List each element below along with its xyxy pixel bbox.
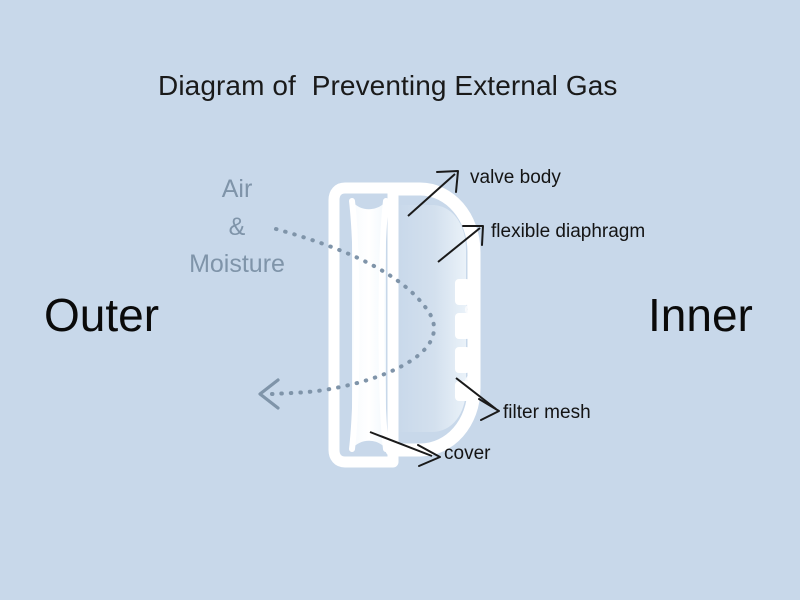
airflow-arrowhead-icon — [260, 380, 278, 408]
leader-arrowhead-icon — [479, 399, 499, 420]
airflow-label-line-1: Air — [172, 177, 302, 202]
filter-mesh-slot — [455, 313, 470, 339]
airflow-label-line-2: & — [172, 215, 302, 240]
page-title: Diagram of Preventing External Gas — [158, 72, 617, 100]
callout-label-valve-body: valve body — [470, 168, 561, 187]
callout-label-cover: cover — [444, 444, 490, 463]
callout-label-flexible-diaphragm: flexible diaphragm — [491, 222, 645, 241]
airflow-label-line-3: Moisture — [172, 252, 302, 277]
valve-inner-channel — [352, 201, 386, 449]
callout-label-filter-mesh: filter mesh — [503, 403, 591, 422]
diagram-canvas: Diagram of Preventing External Gas Outer… — [0, 0, 800, 600]
side-label-inner: Inner — [648, 292, 753, 338]
side-label-outer: Outer — [44, 292, 159, 338]
